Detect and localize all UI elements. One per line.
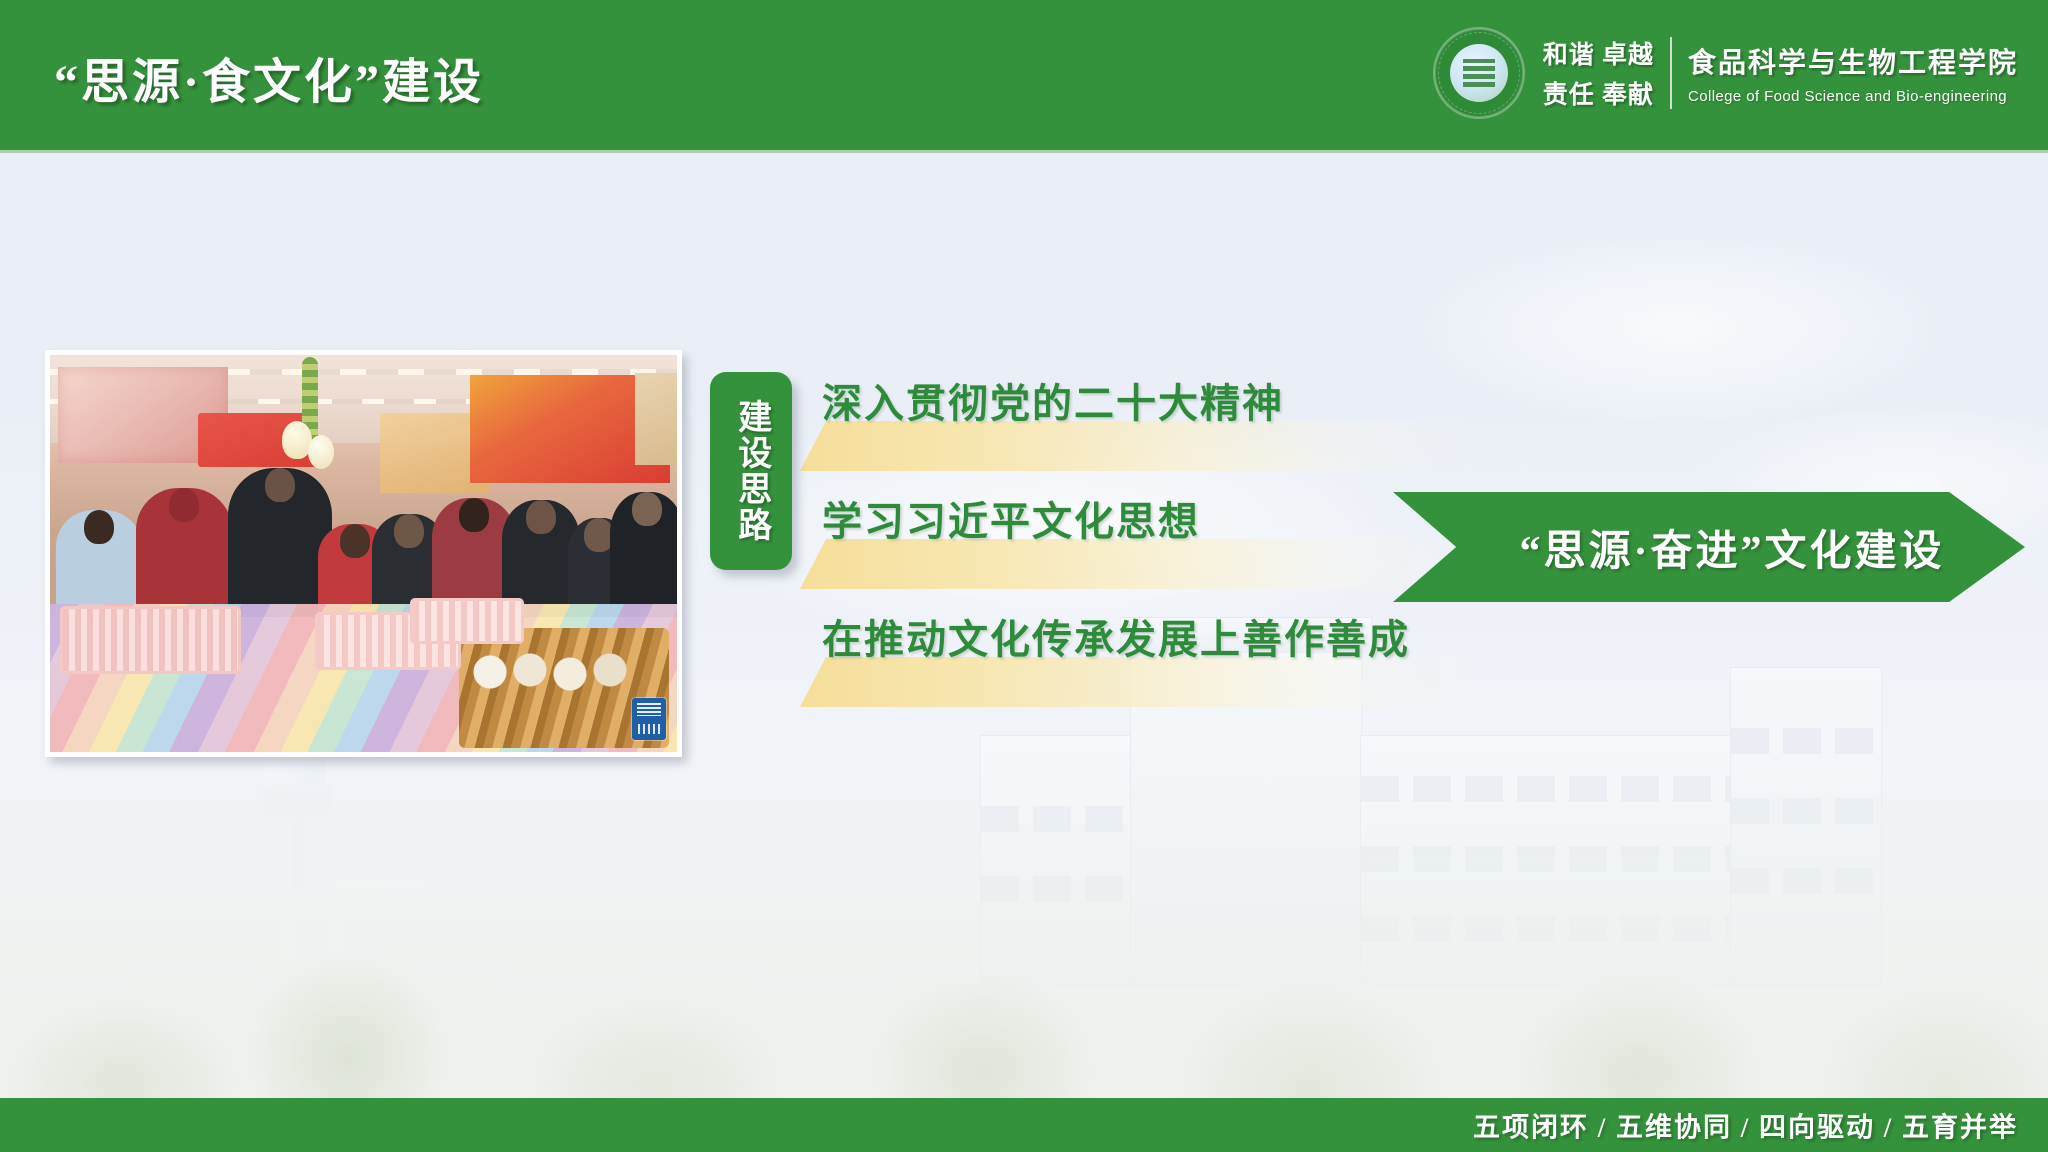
- step-item: 学习习近平文化思想: [800, 493, 1480, 589]
- result-chevron-banner: “思源·奋进”文化建设: [1393, 492, 2025, 602]
- college-name-cn: 食品科学与生物工程学院: [1688, 41, 2018, 81]
- background-trees: [0, 768, 2048, 1098]
- step-item: 深入贯彻党的二十大精神: [800, 375, 1480, 471]
- slide-footer: 五项闭环 / 五维协同 / 四向驱动 / 五育并举: [0, 1098, 2048, 1152]
- motto-line-1: 和谐 卓越: [1543, 35, 1654, 71]
- step-item: 在推动文化传承发展上善作善成: [800, 611, 1480, 707]
- section-label-badge: 建设思路: [710, 372, 792, 570]
- page-title: “思源·食文化”建设: [54, 42, 484, 112]
- college-crest-icon: [1433, 27, 1525, 119]
- footer-slogan: 五项闭环 / 五维协同 / 四向驱动 / 五育并举: [1473, 1106, 2018, 1145]
- slide-header: “思源·食文化”建设 和谐 卓越 责任 奉献 食品科学与生物工程学院 Colle…: [0, 0, 2048, 150]
- college-name-en: College of Food Science and Bio-engineer…: [1688, 88, 2018, 105]
- brand-text: 和谐 卓越 责任 奉献 食品科学与生物工程学院 College of Food …: [1543, 35, 2018, 111]
- content-photo: [45, 350, 682, 757]
- result-label: “思源·奋进”文化建设: [1473, 517, 1944, 578]
- college-name: 食品科学与生物工程学院 College of Food Science and …: [1688, 41, 2018, 105]
- brand-divider: [1670, 37, 1672, 109]
- photo-agency-watermark: [632, 698, 666, 740]
- step-label: 深入贯彻党的二十大精神: [822, 375, 1284, 433]
- presentation-slide: “思源·食文化”建设 和谐 卓越 责任 奉献 食品科学与生物工程学院 Colle…: [0, 0, 2048, 1152]
- photo-image: [50, 355, 677, 752]
- college-motto: 和谐 卓越 责任 奉献: [1543, 35, 1654, 111]
- brand-block: 和谐 卓越 责任 奉献 食品科学与生物工程学院 College of Food …: [1433, 18, 2018, 128]
- step-label: 学习习近平文化思想: [822, 493, 1200, 551]
- section-label-text: 建设思路: [730, 399, 771, 543]
- steps-list: 深入贯彻党的二十大精神 学习习近平文化思想 在推动文化传承发展上善作善成: [800, 375, 1480, 705]
- step-label: 在推动文化传承发展上善作善成: [822, 611, 1410, 669]
- motto-line-2: 责任 奉献: [1543, 75, 1654, 111]
